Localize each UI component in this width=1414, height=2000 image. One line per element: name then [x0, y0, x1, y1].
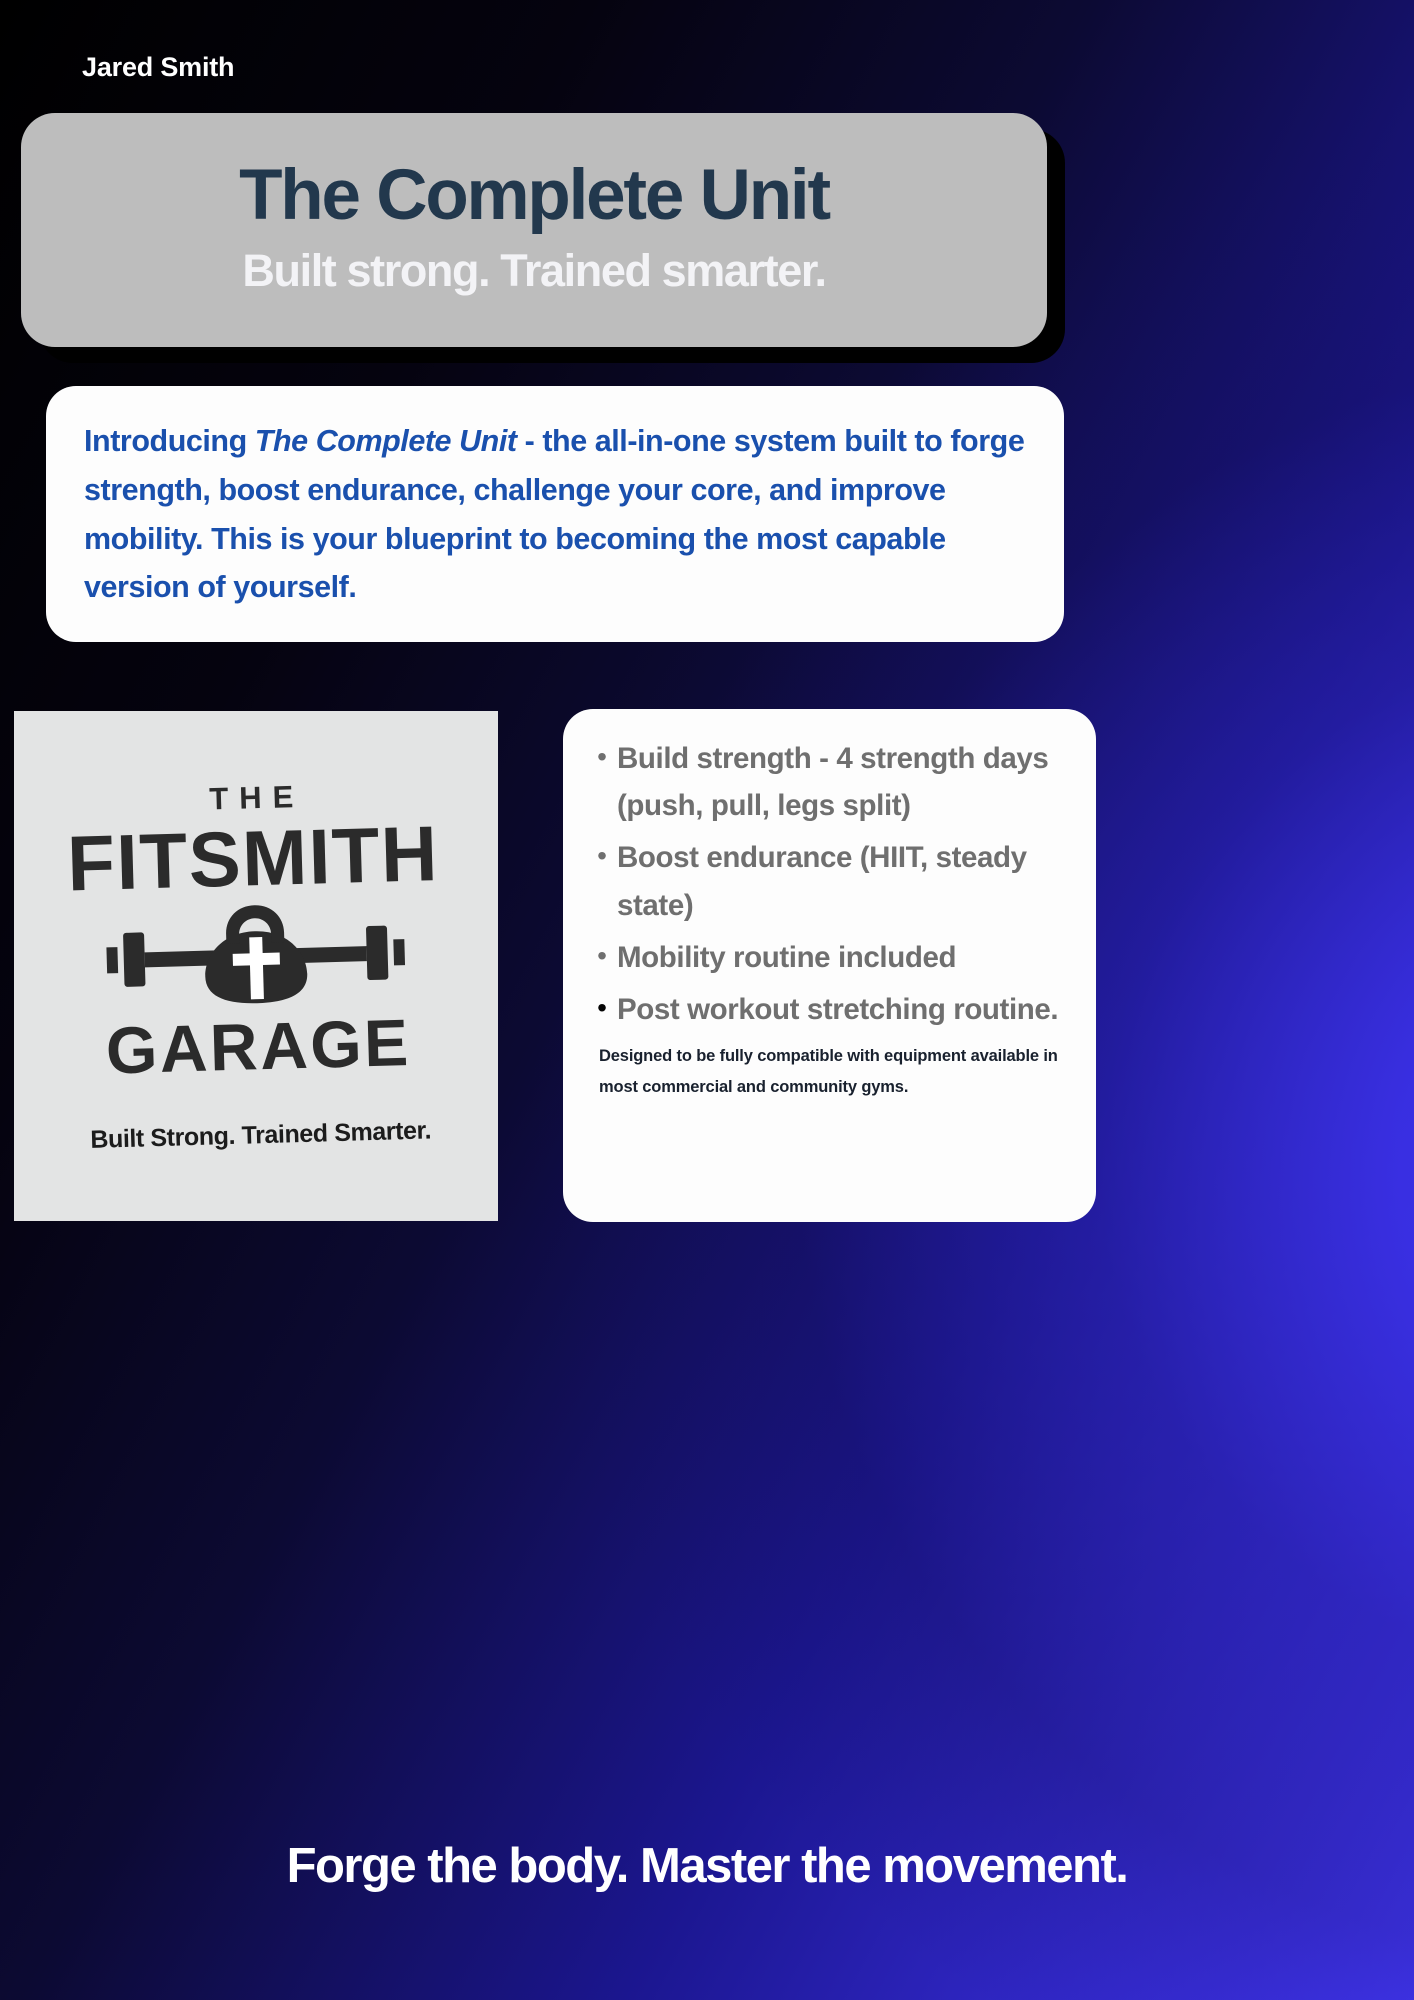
list-item-label: Build strength - 4 strength days (push, … [617, 735, 1068, 829]
brand-logo-image: THE FITSMITH [14, 711, 498, 1221]
kettlebell-cross-barbell-icon [39, 897, 472, 1017]
intro-card: Introducing The Complete Unit - the all-… [46, 386, 1064, 642]
title-card: The Complete Unit Built strong. Trained … [21, 113, 1047, 347]
intro-lead: Introducing [84, 424, 255, 458]
bullet-dot-icon: • [587, 735, 617, 780]
feature-list: • Build strength - 4 strength days (push… [587, 735, 1068, 1033]
poster-canvas: Jared Smith The Complete Unit Built stro… [0, 0, 1414, 2000]
footer-tagline: Forge the body. Master the movement. [0, 1838, 1414, 1894]
list-item-label: Mobility routine included [617, 934, 1068, 981]
list-item-label: Post workout stretching routine. [617, 986, 1068, 1033]
features-card: • Build strength - 4 strength days (push… [563, 709, 1096, 1222]
bullet-dot-icon: • [587, 834, 617, 879]
bullet-dot-icon: • [587, 934, 617, 979]
logo-word-fitsmith: FITSMITH [37, 813, 469, 905]
list-item: • Build strength - 4 strength days (push… [587, 735, 1068, 829]
logo-word-garage: GARAGE [42, 1007, 474, 1085]
intro-paragraph: Introducing The Complete Unit - the all-… [84, 417, 1026, 612]
page-title: The Complete Unit [239, 160, 829, 232]
list-item: • Boost endurance (HIIT, steady state) [587, 834, 1068, 928]
intro-emphasis: The Complete Unit [255, 424, 517, 458]
list-item: • Mobility routine included [587, 934, 1068, 981]
page-subtitle: Built strong. Trained smarter. [242, 247, 825, 294]
compatibility-note: Designed to be fully compatible with equ… [587, 1041, 1068, 1102]
author-name: Jared Smith [82, 52, 234, 83]
logo-tagline: Built Strong. Trained Smarter. [45, 1115, 476, 1156]
logo-artwork: THE FITSMITH [36, 776, 476, 1155]
list-item: • Post workout stretching routine. [587, 986, 1068, 1033]
list-item-label: Boost endurance (HIIT, steady state) [617, 834, 1068, 928]
bullet-dot-icon: • [587, 986, 617, 1031]
